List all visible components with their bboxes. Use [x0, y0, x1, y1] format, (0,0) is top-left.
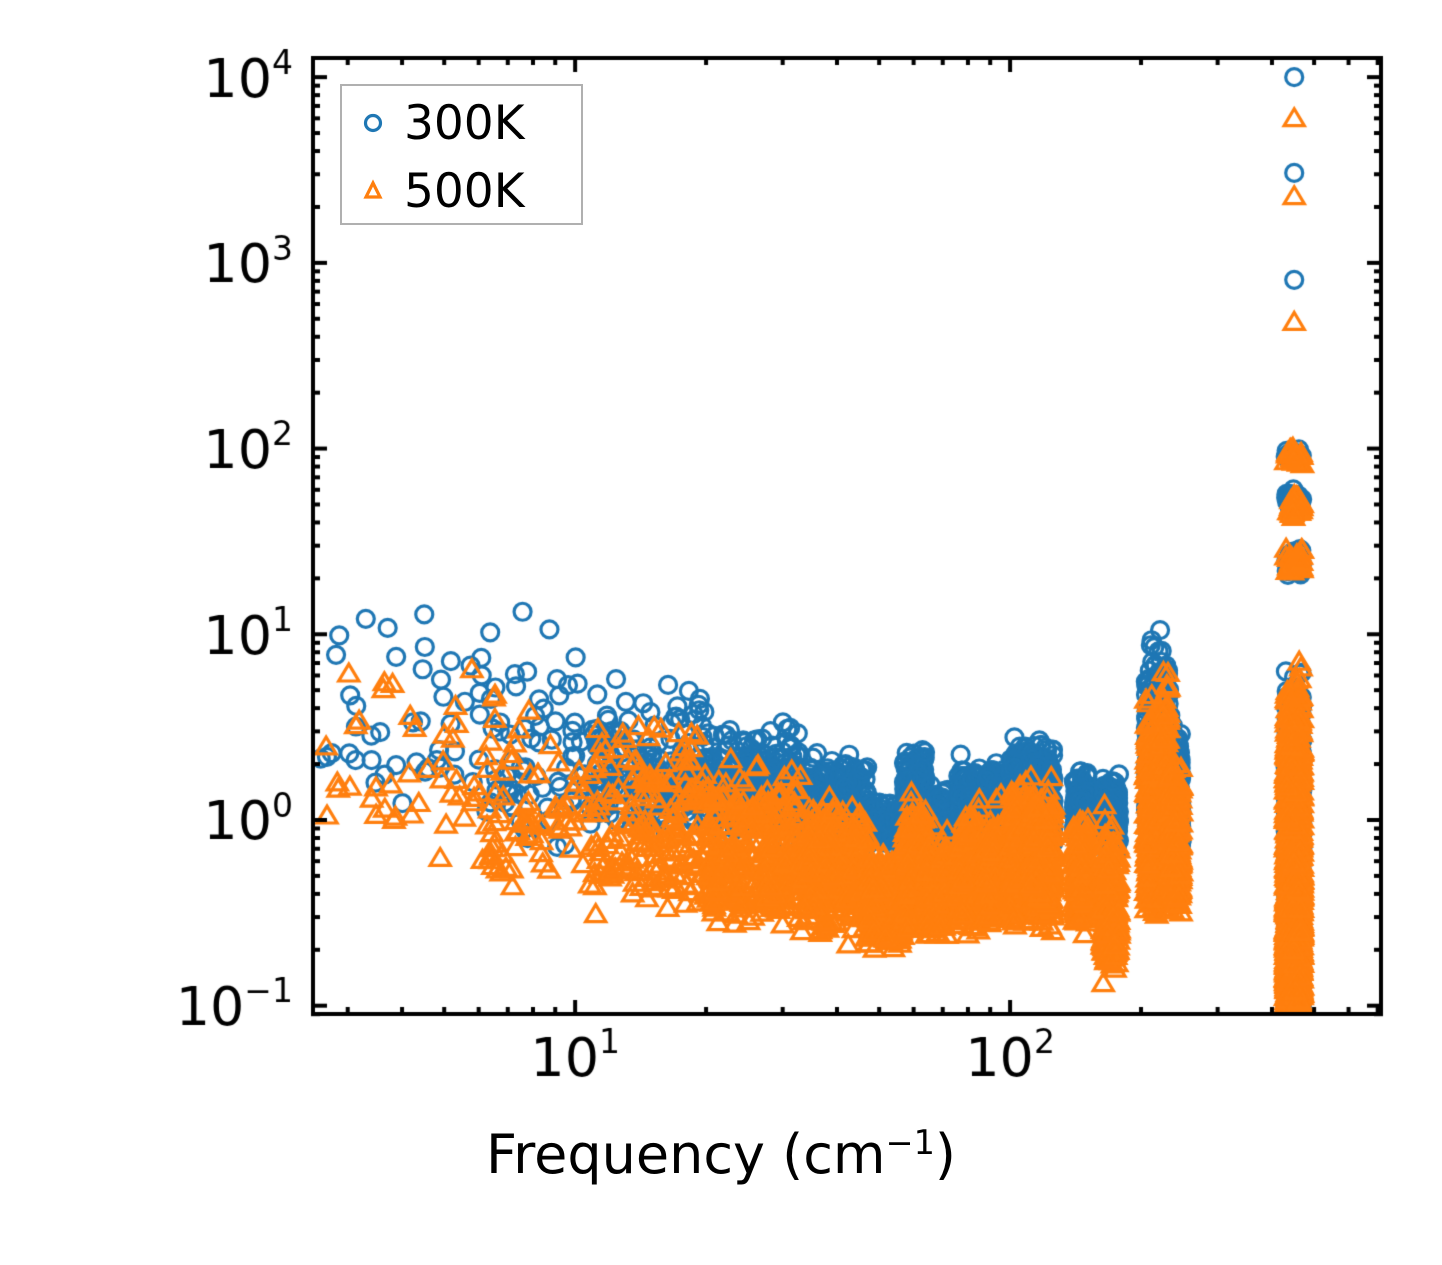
legend-marker-triangle-open-icon	[342, 176, 404, 206]
legend-label-500k: 500K	[404, 168, 525, 215]
legend: 300K 500K	[340, 84, 583, 225]
figure-canvas-container: Frequency (cm−1) Lifetime (ps) 300K 500K	[0, 0, 1442, 1265]
x-axis-title-tail: )	[935, 1123, 956, 1186]
x-axis-title-text: Frequency (cm	[486, 1123, 886, 1186]
x-axis-title-exponent: −1	[886, 1123, 935, 1162]
x-axis-title: Frequency (cm−1)	[0, 1128, 1442, 1182]
legend-marker-circle-open-icon	[342, 108, 404, 138]
legend-entry-300k: 300K	[342, 88, 585, 158]
scatter-plot-canvas	[0, 0, 1442, 1265]
legend-entry-500k: 500K	[342, 156, 585, 226]
legend-label-300k: 300K	[404, 100, 525, 147]
